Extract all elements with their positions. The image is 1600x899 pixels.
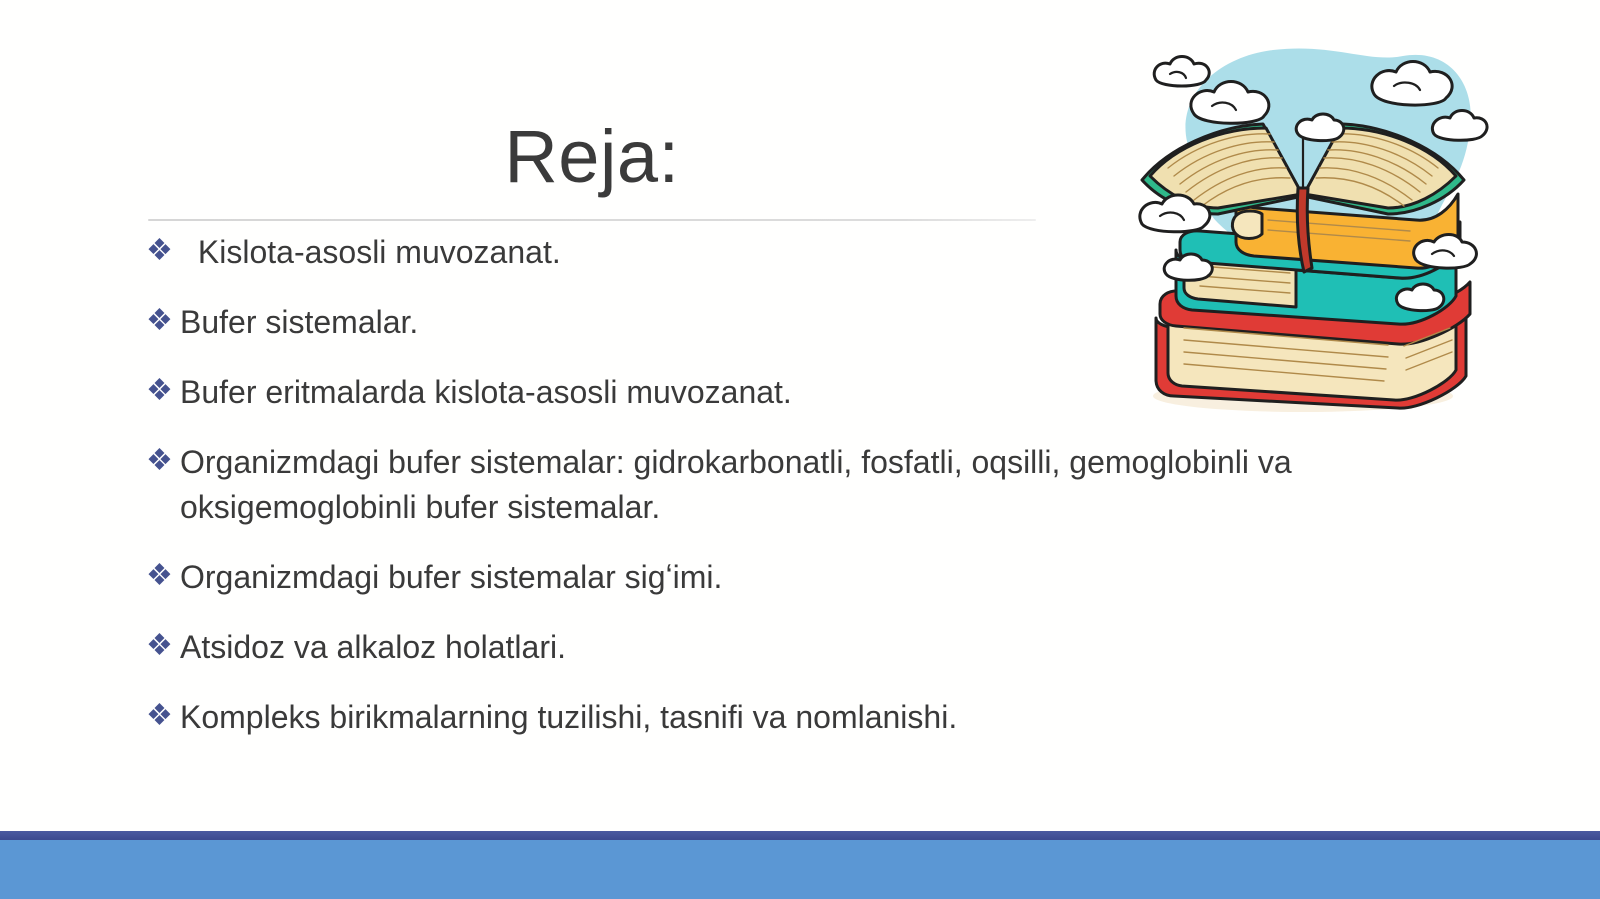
slide: Reja: ❖ Kislota-asosli muvozanat. ❖ Bufe… [0,0,1600,899]
footer-band [0,840,1600,899]
title-block: Reja: [148,118,1036,196]
cloud-icon [1414,235,1477,269]
diamond-cluster-icon: ❖ [146,440,180,481]
list-item-label: Kompleks birikmalarning tuzilishi, tasni… [180,695,1336,739]
page-title: Reja: [148,118,1036,196]
list-item: ❖ Kompleks birikmalarning tuzilishi, tas… [146,695,1336,739]
diamond-cluster-icon: ❖ [146,555,180,596]
list-item: ❖ Organizmdagi bufer sistemalar: gidroka… [146,440,1336,528]
list-item: ❖ Atsidoz va alkaloz holatlari. [146,625,1336,669]
diamond-cluster-icon: ❖ [146,230,180,271]
list-item-label: Organizmdagi bufer sistemalar: gidrokarb… [180,440,1336,528]
list-item-label: Atsidoz va alkaloz holatlari. [180,625,1336,669]
diamond-cluster-icon: ❖ [146,300,180,341]
books-illustration: .ink { stroke:#1f1f1f; stroke-width:3; s… [1098,28,1498,428]
diamond-cluster-icon: ❖ [146,370,180,411]
cloud-icon [1154,57,1209,87]
footer-accent-stripe [0,831,1600,840]
diamond-cluster-icon: ❖ [146,625,180,666]
list-item-label: Organizmdagi bufer sistemalar sigʻimi. [180,555,1336,599]
diamond-cluster-icon: ❖ [146,695,180,736]
list-item: ❖ Organizmdagi bufer sistemalar sigʻimi. [146,555,1336,599]
title-divider [148,219,1036,221]
